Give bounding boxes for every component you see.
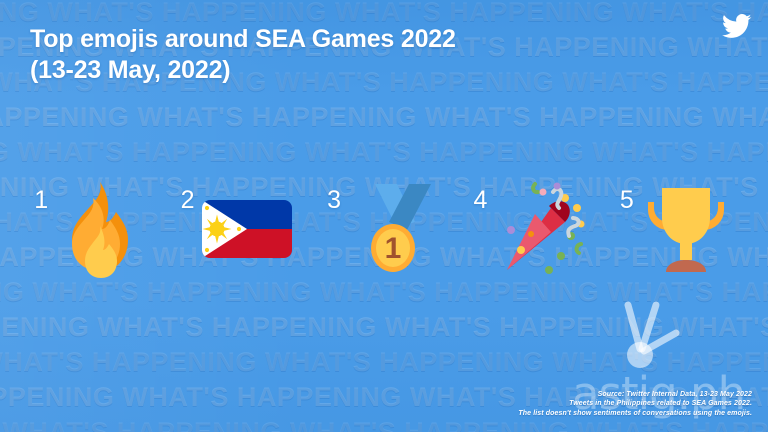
svg-text:1: 1 bbox=[385, 232, 402, 265]
fire-emoji bbox=[52, 178, 148, 278]
astig-logo-mark-icon bbox=[598, 297, 684, 377]
background-pattern-row: WHAT'S HAPPENING WHAT'S HAPPENING WHAT'S… bbox=[0, 100, 768, 135]
rank-number-1: 1 bbox=[34, 188, 48, 213]
trophy-emoji bbox=[638, 178, 734, 278]
twitter-bird-icon bbox=[722, 14, 752, 40]
emoji-rank-item-4: 4 bbox=[457, 178, 603, 293]
party-popper-emoji bbox=[491, 178, 587, 278]
gold-medal-emoji: 1 bbox=[345, 178, 441, 278]
emoji-rank-item-3: 3 1 bbox=[311, 178, 457, 293]
background-pattern-row: WHAT'S HAPPENING WHAT'S HAPPENING WHAT'S… bbox=[0, 310, 768, 345]
source-line-3: The list doesn't show sentiments of conv… bbox=[518, 409, 752, 419]
rank-number-4: 4 bbox=[473, 188, 487, 213]
emoji-rank-item-2: 2 bbox=[164, 178, 310, 293]
title-block: Top emojis around SEA Games 2022 (13-23 … bbox=[30, 24, 456, 86]
emoji-rank-item-5: 5 bbox=[604, 178, 750, 293]
rank-number-2: 2 bbox=[181, 188, 195, 213]
infographic-canvas: WHAT'S HAPPENING WHAT'S HAPPENING WHAT'S… bbox=[0, 0, 768, 432]
source-note-block: Source: Twitter Internal Data, 13-23 May… bbox=[518, 390, 752, 419]
source-line-1: Source: Twitter Internal Data, 13-23 May… bbox=[518, 390, 752, 400]
source-line-2: Tweets in the Philippines related to SEA… bbox=[518, 399, 752, 409]
page-title-line-1: Top emojis around SEA Games 2022 bbox=[30, 24, 456, 55]
philippines-flag-emoji bbox=[199, 178, 295, 278]
page-title-line-2: (13-23 May, 2022) bbox=[30, 55, 456, 86]
emoji-rank-item-1: 1 bbox=[18, 178, 164, 293]
emoji-ranking-row: 1 2 bbox=[0, 178, 768, 293]
rank-number-5: 5 bbox=[620, 188, 634, 213]
rank-number-3: 3 bbox=[327, 188, 341, 213]
background-pattern-row: WHAT'S HAPPENING WHAT'S HAPPENING WHAT'S… bbox=[0, 345, 768, 380]
background-pattern-row: WHAT'S HAPPENING WHAT'S HAPPENING WHAT'S… bbox=[0, 135, 768, 170]
